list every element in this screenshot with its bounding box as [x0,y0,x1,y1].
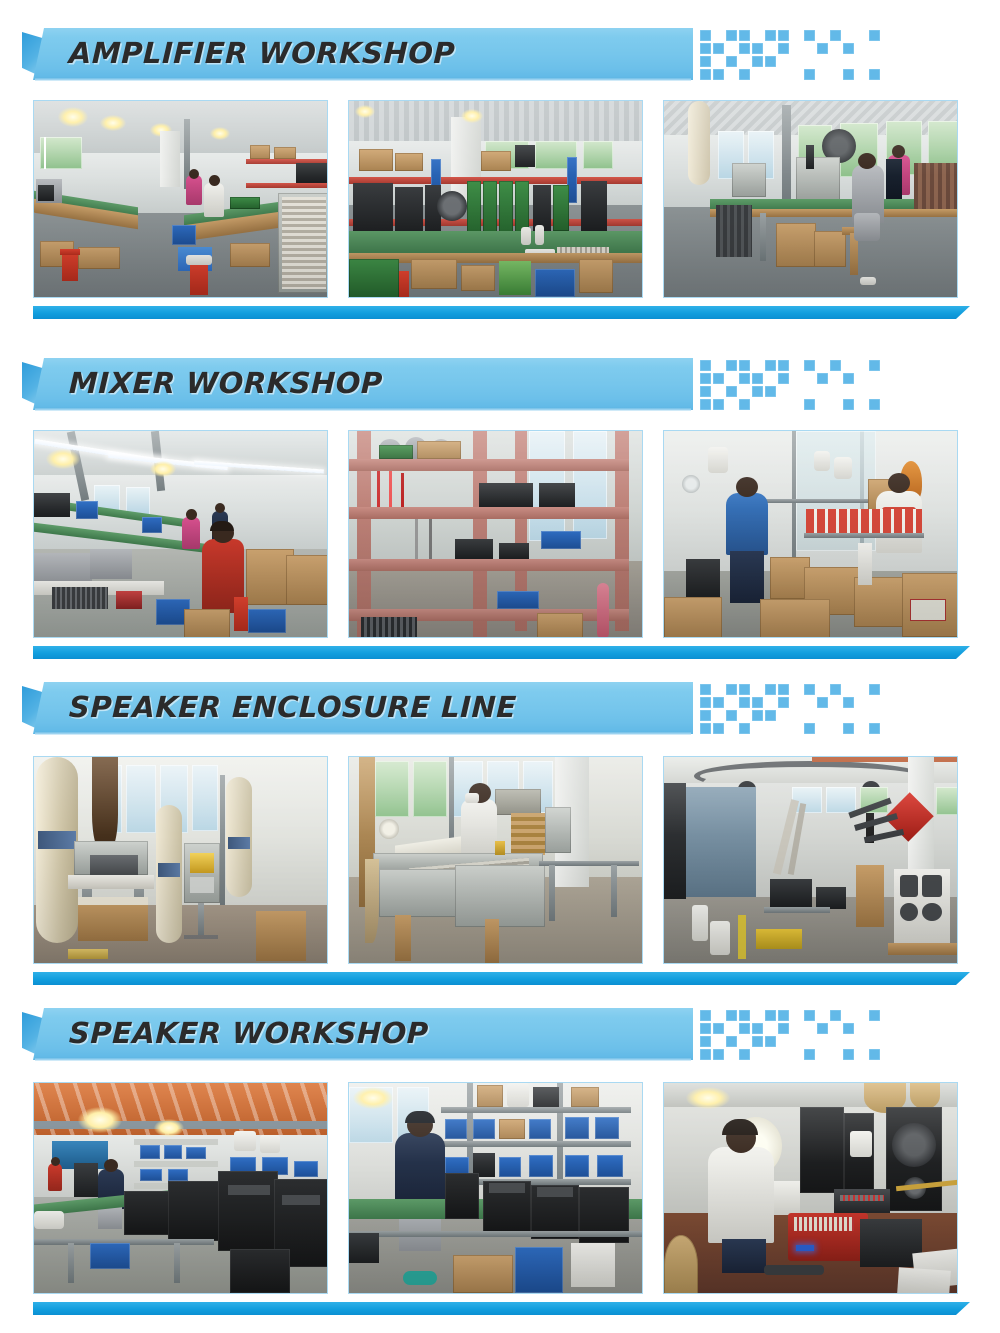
checker-cell [843,723,854,734]
checker-cell [869,69,880,80]
photo-thumbnail[interactable] [33,1082,328,1294]
checker-cell [700,1010,711,1021]
photo-thumbnail[interactable] [348,100,643,298]
checker-cell [869,1010,880,1021]
checker-cell [752,43,763,54]
checker-cell [765,710,776,721]
photo-thumbnail[interactable] [663,1082,958,1294]
section-divider [33,646,970,659]
checker-cell [869,1049,880,1060]
checker-cell [713,373,724,384]
checker-cell [739,69,750,80]
checker-cell [752,1023,763,1034]
checker-cell [739,723,750,734]
photo-thumbnail[interactable] [348,430,643,638]
photo-row [0,1082,1000,1294]
checker-cell [765,386,776,397]
checker-cell [817,373,828,384]
checker-cell [700,43,711,54]
checker-cell [726,386,737,397]
checker-cell [843,43,854,54]
checker-cell [726,1036,737,1047]
checker-cell [700,684,711,695]
checker-cell [869,30,880,41]
photo-thumbnail[interactable] [663,100,958,298]
checker-cell [752,373,763,384]
checker-cell [778,1010,789,1021]
photo-row [0,430,1000,638]
checker-cell [739,373,750,384]
checker-cell [843,1023,854,1034]
checker-cell [765,360,776,371]
checker-cell [830,360,841,371]
checker-cell [739,697,750,708]
checker-cell [713,697,724,708]
checker-cell [700,56,711,67]
checker-cell [739,399,750,410]
photo-thumbnail[interactable] [33,430,328,638]
checker-cell [700,723,711,734]
checker-cell [726,710,737,721]
checker-cell [778,373,789,384]
photo-thumbnail[interactable] [348,1082,643,1294]
checker-cell [713,1023,724,1034]
checker-cell [739,30,750,41]
checker-pattern-icon [700,684,850,734]
section-divider [33,306,970,319]
checker-cell [726,684,737,695]
checker-cell [713,1049,724,1060]
checker-cell [843,373,854,384]
checker-cell [765,56,776,67]
photo-thumbnail[interactable] [663,756,958,964]
section-title: MIXER WORKSHOP [68,358,384,410]
checker-cell [700,1023,711,1034]
checker-cell [700,1049,711,1060]
checker-cell [804,1010,815,1021]
checker-cell [700,399,711,410]
section-banner: SPEAKER WORKSHOP [33,1008,693,1060]
section-banner: AMPLIFIER WORKSHOP [33,28,693,80]
checker-cell [752,56,763,67]
checker-cell [765,1036,776,1047]
checker-cell [700,1036,711,1047]
photo-row [0,100,1000,298]
checker-cell [739,43,750,54]
checker-pattern-icon [700,1010,850,1060]
checker-cell [804,1049,815,1060]
section-banner: SPEAKER ENCLOSURE LINE [33,682,693,734]
checker-cell [830,1010,841,1021]
checker-cell [804,723,815,734]
checker-cell [817,1023,828,1034]
checker-cell [739,360,750,371]
checker-cell [778,684,789,695]
section-title: SPEAKER ENCLOSURE LINE [68,682,517,734]
checker-cell [726,30,737,41]
checker-cell [700,360,711,371]
checker-cell [713,43,724,54]
section-divider [33,972,970,985]
photo-thumbnail[interactable] [33,756,328,964]
checker-cell [869,684,880,695]
checker-cell [752,710,763,721]
section-title: SPEAKER WORKSHOP [68,1008,429,1060]
checker-cell [804,360,815,371]
checker-cell [700,69,711,80]
checker-cell [700,697,711,708]
checker-cell [778,43,789,54]
checker-cell [713,69,724,80]
checker-cell [739,1049,750,1060]
checker-cell [804,30,815,41]
checker-cell [843,1049,854,1060]
checker-cell [843,697,854,708]
checker-cell [778,30,789,41]
photo-thumbnail[interactable] [663,430,958,638]
checker-cell [817,697,828,708]
checker-cell [869,723,880,734]
checker-cell [765,1010,776,1021]
section-divider [33,1302,970,1315]
checker-cell [739,1010,750,1021]
checker-cell [869,399,880,410]
checker-cell [700,386,711,397]
checker-cell [765,30,776,41]
checker-cell [830,684,841,695]
checker-cell [804,399,815,410]
checker-cell [700,710,711,721]
photo-thumbnail[interactable] [33,100,328,298]
checker-cell [726,360,737,371]
checker-cell [817,43,828,54]
checker-pattern-icon [700,30,850,80]
checker-cell [726,1010,737,1021]
checker-cell [739,684,750,695]
checker-cell [843,399,854,410]
checker-cell [752,1036,763,1047]
checker-cell [843,69,854,80]
checker-cell [752,697,763,708]
checker-cell [804,684,815,695]
checker-cell [778,1023,789,1034]
checker-cell [752,386,763,397]
checker-cell [700,373,711,384]
checker-cell [778,697,789,708]
photo-thumbnail[interactable] [348,756,643,964]
checker-cell [713,723,724,734]
checker-cell [778,360,789,371]
checker-cell [804,69,815,80]
checker-cell [869,360,880,371]
checker-pattern-icon [700,360,850,410]
section-banner: MIXER WORKSHOP [33,358,693,410]
factory-showcase-page: AMPLIFIER WORKSHOP [0,0,1000,1333]
checker-cell [726,56,737,67]
checker-cell [830,30,841,41]
checker-cell [765,684,776,695]
checker-cell [739,1023,750,1034]
section-title: AMPLIFIER WORKSHOP [68,28,456,80]
photo-row [0,756,1000,964]
checker-cell [713,399,724,410]
checker-cell [700,30,711,41]
